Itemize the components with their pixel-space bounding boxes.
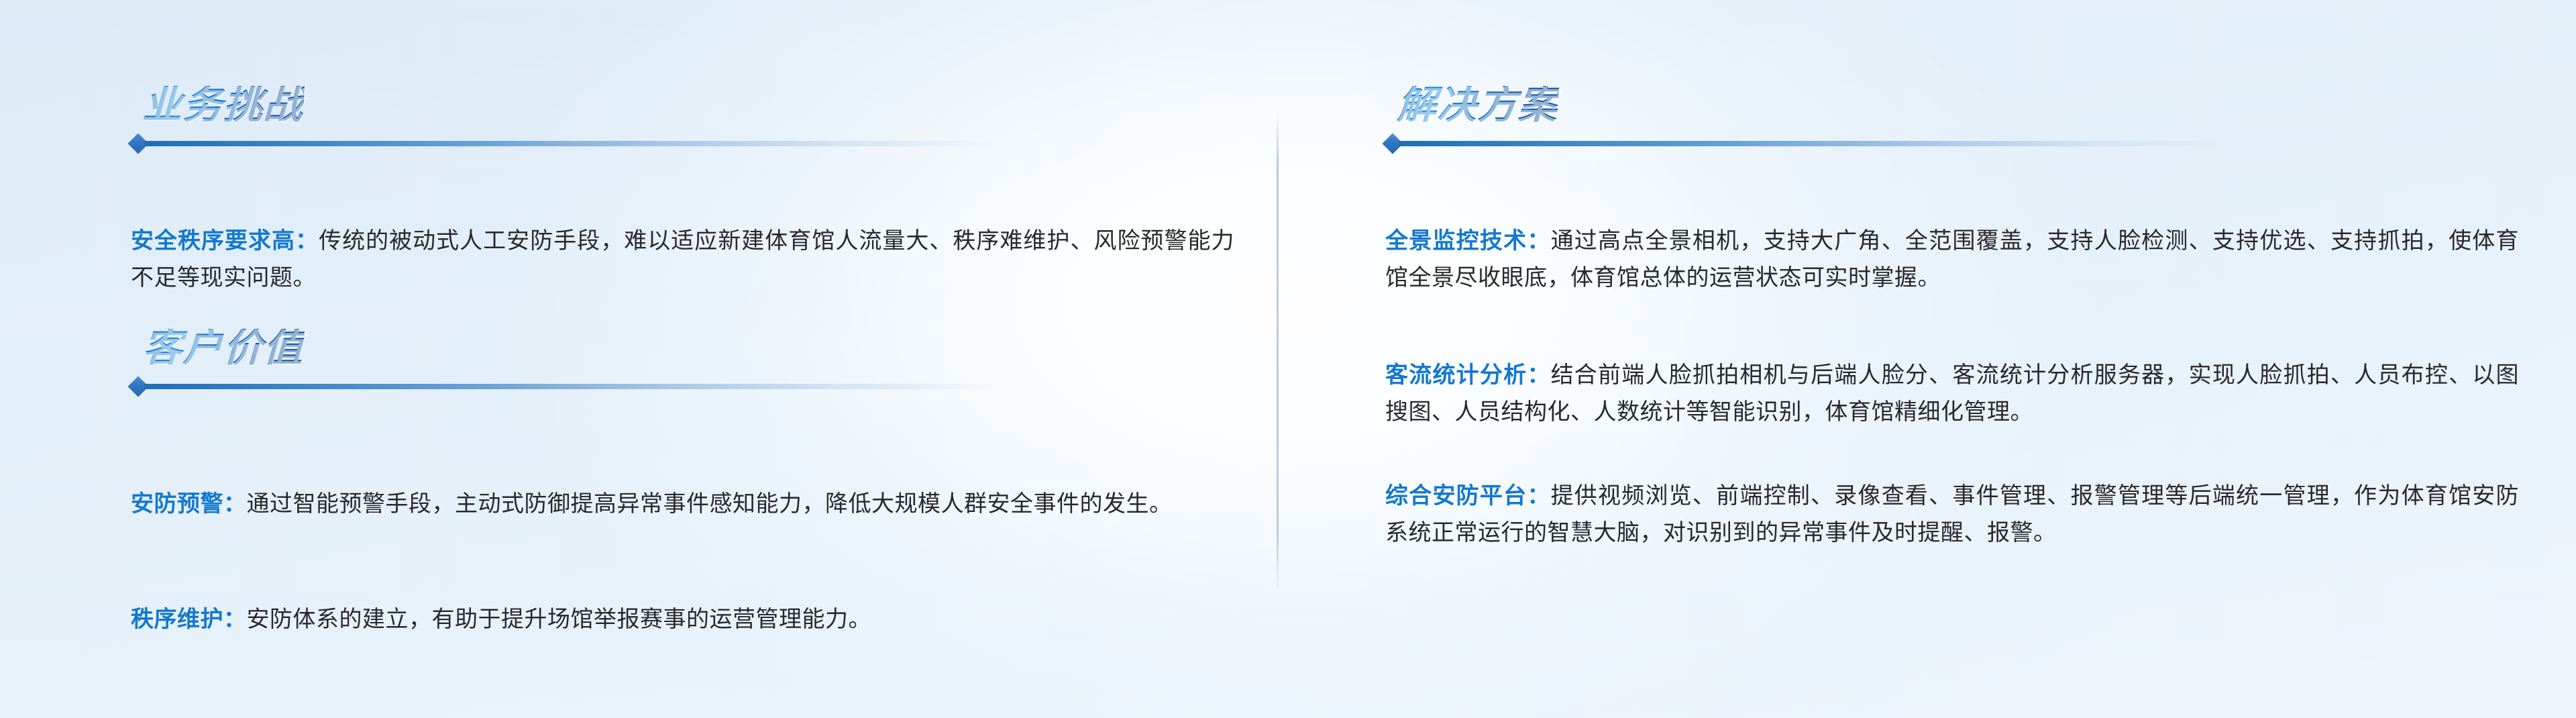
section-title-solution: 解决方案 [1397,86,1559,125]
paragraph-body-text: 通过高点全景相机，支持大广角、全范围覆盖，支持人脸检测、支持优选、支持抓拍，使体… [1385,228,2519,291]
paragraph-integrated-security-platform: 综合安防平台：提供视频浏览、前端控制、录像查看、事件管理、报警管理等后端统一管理… [1385,478,2519,552]
section-customer-value-header: 客户价值 [131,329,304,396]
paragraph-passenger-flow-analysis: 客流统计分析：结合前端人脸抓拍相机与后端人脸分、客流统计分析服务器，实现人脸抓拍… [1385,357,2519,431]
title-rule-business-challenge [131,133,304,153]
paragraph-lead-label: 全景监控技术： [1385,228,1551,254]
paragraph-lead-label: 安全秩序要求高： [131,228,319,254]
rule-line [144,141,996,146]
paragraph-security-alert: 安防预警：通过智能预警手段，主动式防御提高异常事件感知能力，降低大规模人群安全事… [131,486,1234,523]
paragraph-lead-label: 客流统计分析： [1385,362,1551,388]
section-title-customer-value: 客户价值 [142,329,305,368]
paragraph-safety-order: 安全秩序要求高：传统的被动式人工安防手段，难以适应新建体育馆人流量大、秩序难维护… [131,223,1234,297]
rule-line [144,384,996,389]
paragraph-lead-label: 综合安防平台： [1385,483,1551,509]
paragraph-body-text: 结合前端人脸抓拍相机与后端人脸分、客流统计分析服务器，实现人脸抓拍、人员布控、以… [1385,362,2519,425]
paragraph-lead-label: 安防预警： [131,491,247,517]
section-business-challenge-header: 业务挑战 [131,86,304,153]
title-rule-solution [1385,133,1558,153]
title-rule-customer-value [131,376,304,396]
section-title-business-challenge: 业务挑战 [142,86,305,125]
paragraph-body-text: 通过智能预警手段，主动式防御提高异常事件感知能力，降低大规模人群安全事件的发生。 [247,491,1173,517]
paragraph-body-text: 提供视频浏览、前端控制、录像查看、事件管理、报警管理等后端统一管理，作为体育馆安… [1385,483,2519,546]
column-divider [1277,117,1279,587]
paragraph-body-text: 安防体系的建立，有助于提升场馆举报赛事的运营管理能力。 [247,607,872,632]
paragraph-lead-label: 秩序维护： [131,607,247,632]
rule-line [1399,141,2251,146]
section-solution-header: 解决方案 [1385,86,1558,153]
paragraph-panoramic-monitoring: 全景监控技术：通过高点全景相机，支持大广角、全范围覆盖，支持人脸检测、支持优选、… [1385,223,2519,297]
paragraph-order-maintenance: 秩序维护：安防体系的建立，有助于提升场馆举报赛事的运营管理能力。 [131,601,1234,638]
slide-canvas: 业务挑战 安全秩序要求高：传统的被动式人工安防手段，难以适应新建体育馆人流量大、… [0,0,2576,718]
